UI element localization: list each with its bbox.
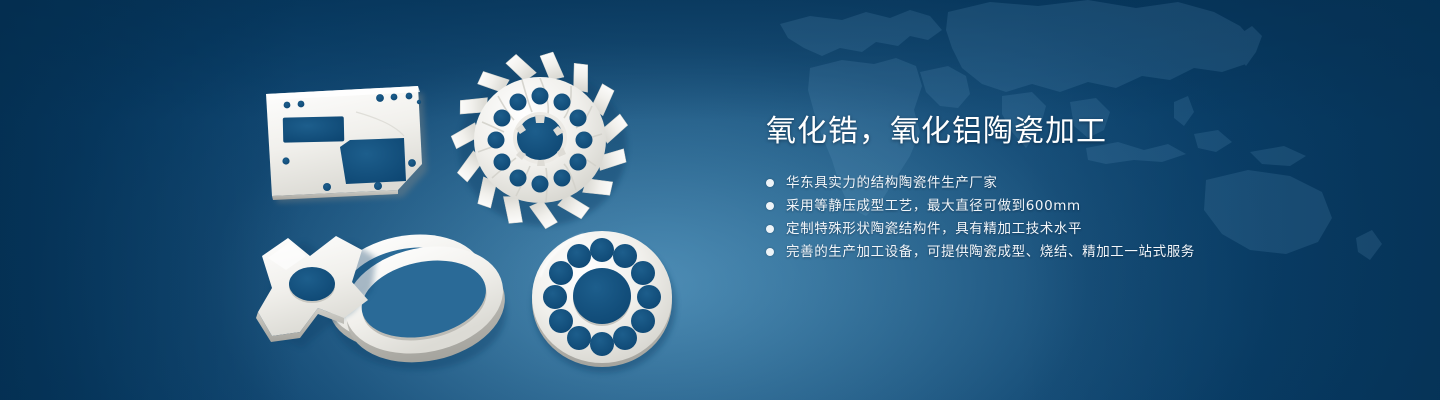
bullet-dot-icon (766, 179, 774, 187)
feature-item-4: 完善的生产加工设备，可提供陶瓷成型、烧结、精加工一站式服务 (766, 241, 1366, 263)
bullet-dot-icon (766, 202, 774, 210)
feature-item-2: 采用等静压成型工艺，最大直径可做到600mm (766, 195, 1366, 217)
bullet-dot-icon (766, 248, 774, 256)
feature-text: 定制特殊形状陶瓷结构件，具有精加工技术水平 (786, 218, 1082, 240)
hero-banner: 氧化锆，氧化铝陶瓷加工 华东具实力的结构陶瓷件生产厂家 采用等静压成型工艺，最大… (0, 0, 1440, 400)
bullet-dot-icon (766, 225, 774, 233)
banner-copy: 氧化锆，氧化铝陶瓷加工 华东具实力的结构陶瓷件生产厂家 采用等静压成型工艺，最大… (766, 112, 1366, 264)
feature-list: 华东具实力的结构陶瓷件生产厂家 采用等静压成型工艺，最大直径可做到600mm 定… (766, 172, 1366, 263)
feature-text: 采用等静压成型工艺，最大直径可做到600mm (786, 195, 1081, 217)
ceramic-perforated-disc (532, 231, 676, 373)
feature-text: 华东具实力的结构陶瓷件生产厂家 (786, 172, 998, 194)
feature-item-3: 定制特殊形状陶瓷结构件，具有精加工技术水平 (766, 218, 1366, 240)
banner-headline: 氧化锆，氧化铝陶瓷加工 (766, 112, 1366, 152)
feature-text: 完善的生产加工设备，可提供陶瓷成型、烧结、精加工一站式服务 (786, 241, 1195, 263)
ceramic-impeller-disc (450, 50, 631, 231)
product-images (0, 0, 720, 400)
ceramic-machined-plate (266, 86, 427, 203)
feature-item-1: 华东具实力的结构陶瓷件生产厂家 (766, 172, 1366, 194)
